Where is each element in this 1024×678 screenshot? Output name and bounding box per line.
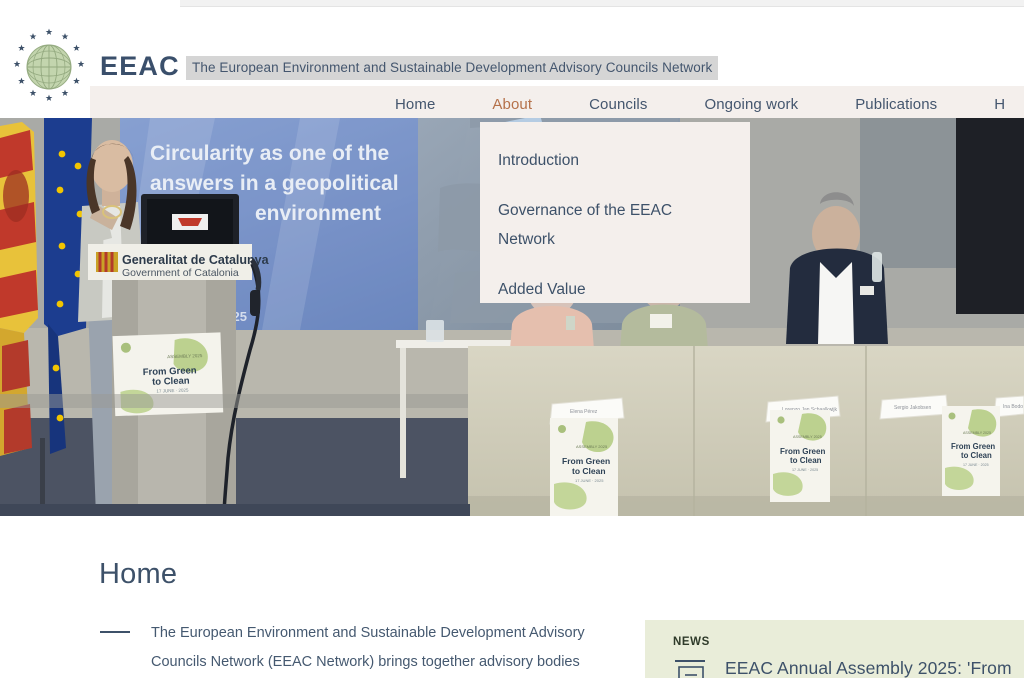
about-dropdown-menu: IntroductionGovernance of the EEAC Netwo… <box>480 122 750 303</box>
news-label: NEWS <box>673 636 710 648</box>
news-card[interactable]: NEWS EEAC Annual Assembly 2025: 'From <box>645 620 1024 678</box>
svg-text:Elena Pérez: Elena Pérez <box>570 409 598 415</box>
svg-text:Sergio Jakobsen: Sergio Jakobsen <box>894 405 931 411</box>
svg-text:Government of Catalonia: Government of Catalonia <box>122 267 239 279</box>
news-headline[interactable]: EEAC Annual Assembly 2025: 'From <box>725 658 1012 678</box>
svg-text:to Clean: to Clean <box>961 451 992 460</box>
svg-text:Circularity as one of the: Circularity as one of the <box>150 142 389 165</box>
nav-home[interactable]: Home <box>395 96 435 113</box>
main-navigation: HomeAboutCouncilsOngoing workPublication… <box>90 86 1024 122</box>
svg-text:17 JUNE · 2025: 17 JUNE · 2025 <box>575 478 604 483</box>
nav-about[interactable]: About <box>492 96 532 113</box>
logo-wordmark: EEAC <box>100 53 180 80</box>
nav-publications[interactable]: Publications <box>855 96 937 113</box>
svg-text:to Clean: to Clean <box>790 456 822 465</box>
nav-councils[interactable]: Councils <box>589 96 647 113</box>
intro-block: The European Environment and Sustainable… <box>100 619 600 676</box>
nav-ongoing-work[interactable]: Ongoing work <box>704 96 798 113</box>
svg-text:17 JUNE · 2025: 17 JUNE · 2025 <box>792 468 818 472</box>
svg-text:to Clean: to Clean <box>572 466 606 476</box>
svg-text:From Green: From Green <box>562 456 610 466</box>
dropdown-item-added-value[interactable]: Added Value <box>498 275 698 304</box>
dropdown-item-governance-of-the-eeac-network[interactable]: Governance of the EEAC Network <box>498 196 698 254</box>
svg-text:answers in a geopolitical: answers in a geopolitical <box>150 172 399 195</box>
nav-truncated[interactable]: H <box>994 96 1005 113</box>
article-icon <box>673 658 709 678</box>
svg-text:ASSEMBLY 2025: ASSEMBLY 2025 <box>793 435 822 439</box>
page-title: Home <box>99 558 177 591</box>
svg-text:From Green: From Green <box>780 447 825 456</box>
globe-stars-icon <box>8 26 90 108</box>
dropdown-item-introduction[interactable]: Introduction <box>498 146 698 175</box>
svg-text:Generalitat de Catalunya: Generalitat de Catalunya <box>122 253 270 267</box>
svg-text:From Green: From Green <box>951 442 995 451</box>
svg-text:environment: environment <box>255 202 381 225</box>
svg-text:to Clean: to Clean <box>152 375 190 387</box>
svg-text:ASSEMBLY 2025: ASSEMBLY 2025 <box>576 444 608 449</box>
intro-paragraph: The European Environment and Sustainable… <box>151 619 591 676</box>
news-row: EEAC Annual Assembly 2025: 'From <box>673 658 1012 678</box>
svg-text:ASSEMBLY 2025: ASSEMBLY 2025 <box>963 431 991 435</box>
intro-rule <box>100 631 130 633</box>
svg-text:17 JUNE · 2025: 17 JUNE · 2025 <box>963 463 989 467</box>
nav-list: HomeAboutCouncilsOngoing workPublication… <box>90 86 1024 122</box>
svg-text:Ina Bodo: Ina Bodo <box>1003 404 1023 410</box>
site-tagline: The European Environment and Sustainable… <box>186 56 718 80</box>
